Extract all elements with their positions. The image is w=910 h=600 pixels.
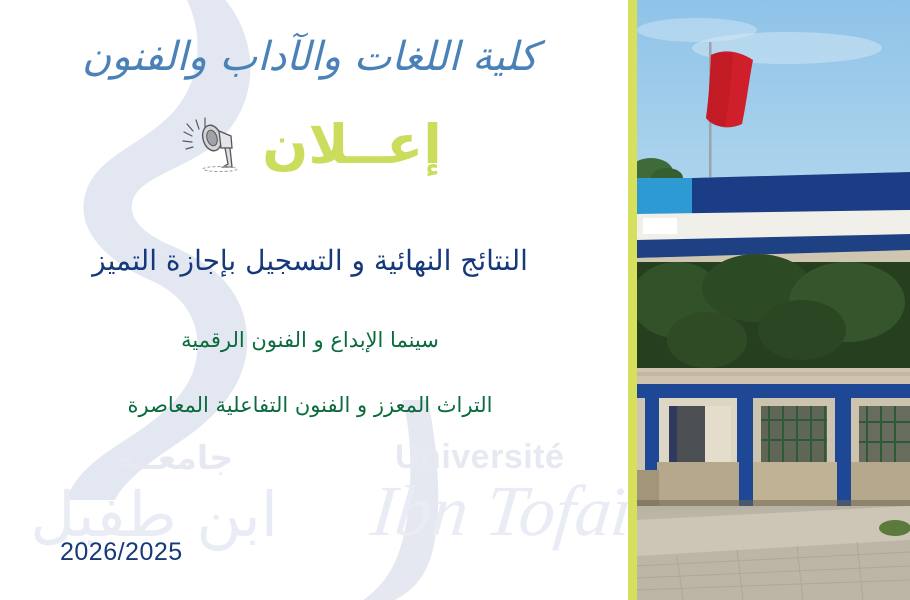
megaphone-icon bbox=[178, 112, 244, 178]
announcement-poster: Université Ibn Tofaïl جامعــة ابن طفيل ك… bbox=[0, 0, 910, 600]
announcement-heading-row: إعــلان bbox=[0, 112, 620, 178]
program-line-2: التراث المعزز و الفنون التفاعلية المعاصر… bbox=[0, 392, 620, 419]
watermark-layer: Université Ibn Tofaïl جامعــة ابن طفيل bbox=[0, 0, 628, 600]
academic-year-label: 2026/2025 bbox=[60, 538, 183, 567]
watermark-arabic-line-1: جامعــة bbox=[115, 438, 233, 477]
program-line-1: سينما الإبداع و الفنون الرقمية bbox=[0, 327, 620, 354]
headline-text: النتائج النهائية و التسجيل بإجازة التميز bbox=[0, 243, 620, 279]
campus-photo bbox=[637, 0, 910, 600]
logo-initial-watermark bbox=[330, 400, 480, 600]
vertical-divider bbox=[628, 0, 637, 600]
poster-left-panel: Université Ibn Tofaïl جامعــة ابن طفيل ك… bbox=[0, 0, 628, 600]
announcement-word: إعــلان bbox=[262, 118, 441, 172]
watermark-ibn-tofail-text: Ibn Tofaïl bbox=[368, 470, 628, 553]
faculty-title: كلية اللغات والآداب والفنون bbox=[0, 36, 620, 78]
watermark-universite-text: Université bbox=[395, 438, 564, 477]
campus-photo-illustration bbox=[637, 0, 910, 600]
